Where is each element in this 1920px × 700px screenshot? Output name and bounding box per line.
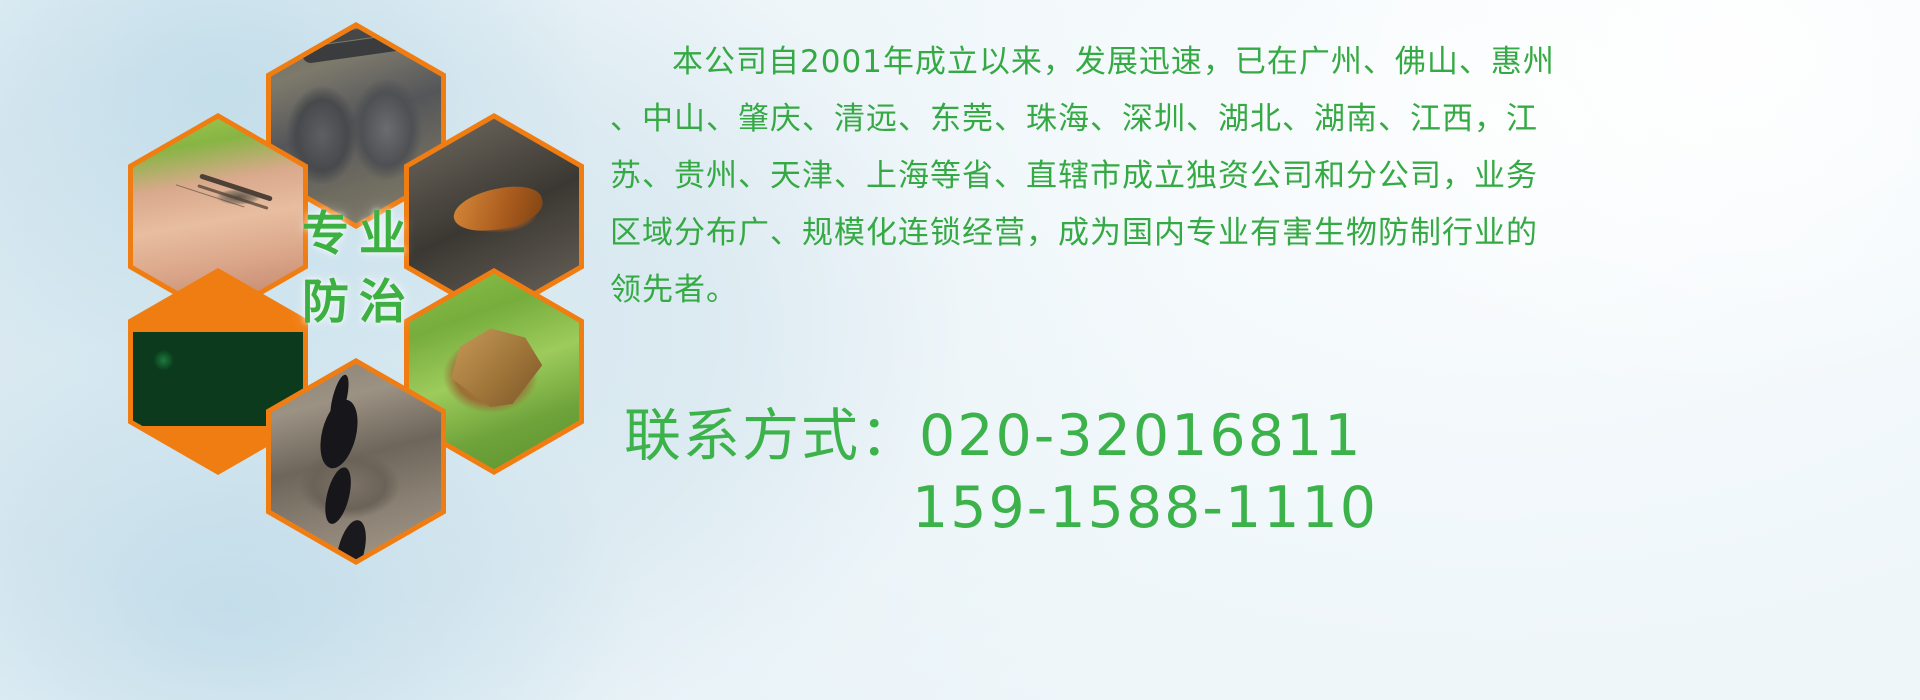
intro-line-3: 苏、贵州、天津、上海等省、直辖市成立独资公司和分公司，业务 xyxy=(610,148,1900,205)
contact-line-mobile[interactable]: 159-1588-1110 xyxy=(624,472,1914,544)
intro-line-5: 领先者。 xyxy=(610,262,1900,319)
center-slogan-line-1: 专业 xyxy=(284,200,434,268)
intro-line-1: 本公司自2001年成立以来，发展迅速，已在广州、佛山、惠州 xyxy=(610,34,1900,91)
company-intro-paragraph: 本公司自2001年成立以来，发展迅速，已在广州、佛山、惠州 、中山、肇庆、清远、… xyxy=(610,34,1900,319)
hex-image-clip xyxy=(271,364,441,560)
center-slogan: 专业 防治 xyxy=(284,200,434,336)
honeycomb-photo-collage: 专业 防治 xyxy=(88,10,588,570)
contact-line-primary[interactable]: 联系方式：020-32016811 xyxy=(624,400,1914,472)
intro-line-4: 区域分布广、规模化连锁经营，成为国内专业有害生物防制行业的 xyxy=(610,205,1900,262)
contact-block: 联系方式：020-32016811 159-1588-1110 xyxy=(624,400,1914,544)
ants-photo xyxy=(271,364,441,560)
center-slogan-line-2: 防治 xyxy=(284,268,434,336)
promo-banner: 专业 防治 本公司自2001年成立以来，发展迅速，已在广州、佛山、惠州 、中山、… xyxy=(0,0,1920,700)
intro-line-2: 、中山、肇庆、清远、东莞、珠海、深圳、湖北、湖南、江西，江 xyxy=(610,91,1900,148)
